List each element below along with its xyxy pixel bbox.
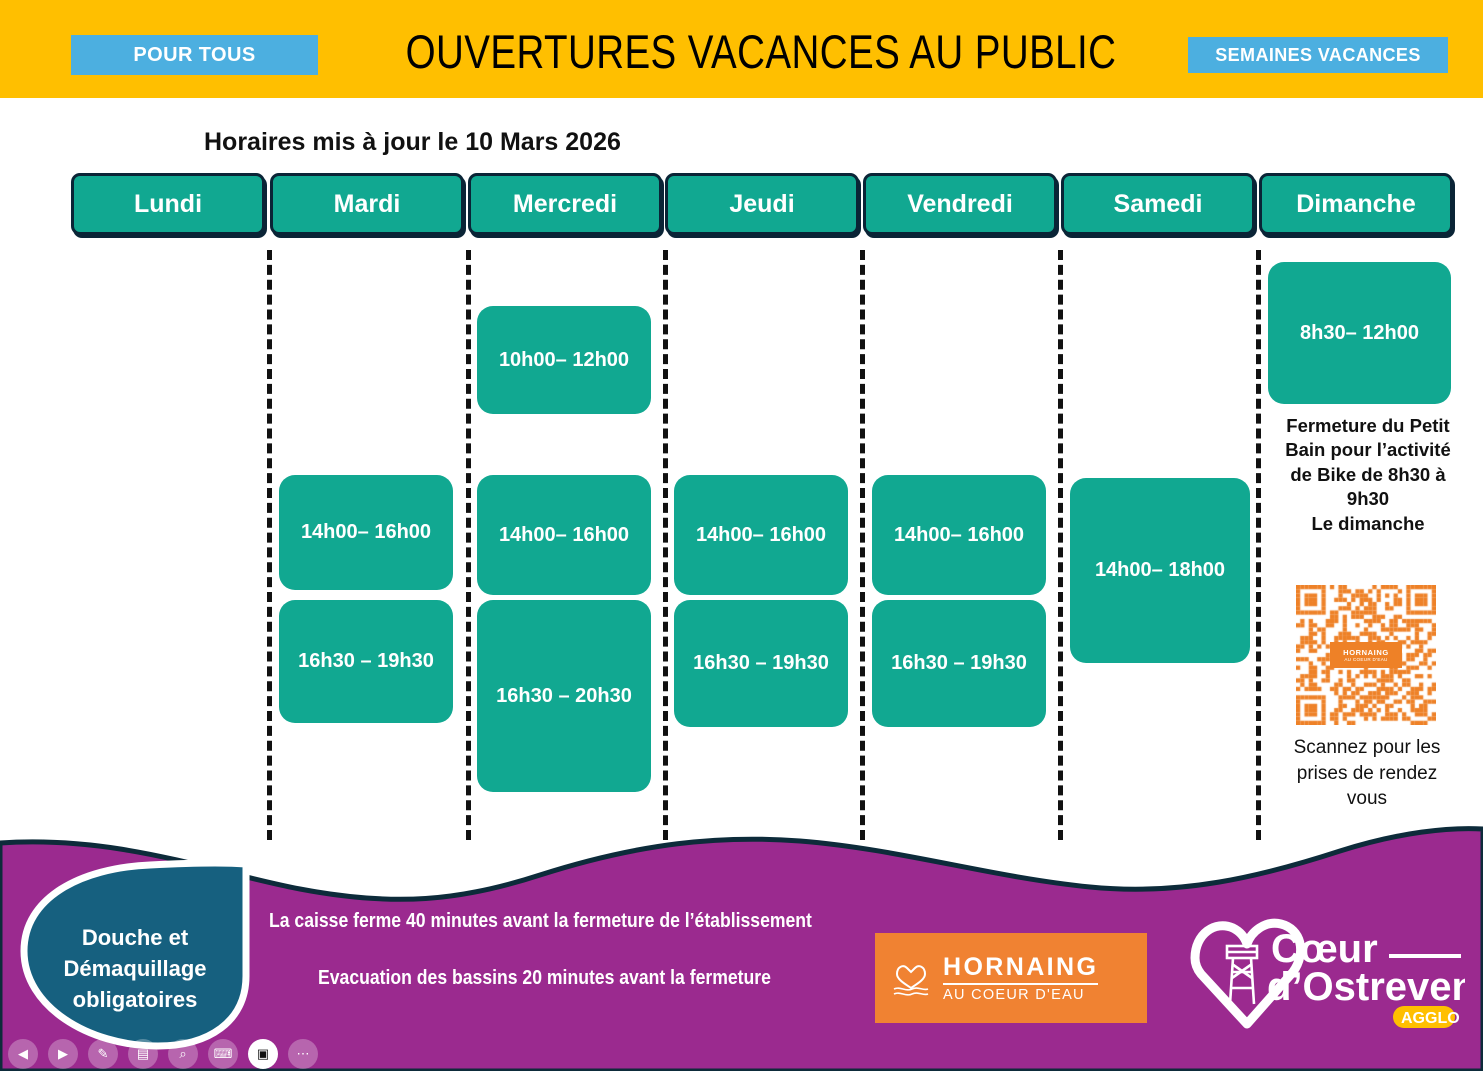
day-header-mardi: Mardi xyxy=(270,173,464,235)
pour-tous-badge: POUR TOUS xyxy=(71,35,318,75)
time-slot-jeudi-6: 16h30 – 19h30 xyxy=(674,600,848,727)
column-separator-2 xyxy=(663,250,668,840)
day-header-lundi: Lundi xyxy=(71,173,265,235)
layout-button[interactable]: ▤ xyxy=(128,1039,158,1069)
hornaing-logo-tagline: AU COEUR D'EAU xyxy=(943,987,1098,1003)
previous-page-button[interactable]: ◀ xyxy=(8,1039,38,1069)
zoom-button[interactable]: ⌕ xyxy=(168,1039,198,1069)
pen-tool-button[interactable]: ✎ xyxy=(88,1039,118,1069)
day-header-jeudi: Jeudi xyxy=(665,173,859,235)
cash-desk-notice: La caisse ferme 40 minutes avant la ferm… xyxy=(269,910,812,933)
day-header-dimanche: Dimanche xyxy=(1259,173,1453,235)
coeur-logo-line2: d’Ostrevent xyxy=(1267,965,1465,1009)
schedule-update-date: Horaires mis à jour le 10 Mars 2026 xyxy=(204,128,621,157)
column-separator-1 xyxy=(466,250,471,840)
time-slot-vendredi-7: 14h00– 16h00 xyxy=(872,475,1046,595)
time-slot-jeudi-5: 14h00– 16h00 xyxy=(674,475,848,595)
hornaing-logo-name: HORNAING xyxy=(943,953,1098,985)
heart-wave-icon xyxy=(889,958,933,998)
more-options-button[interactable]: ⋯ xyxy=(288,1039,318,1069)
viewer-toolbar[interactable]: ◀▶✎▤⌕⌨▣⋯ xyxy=(0,1036,300,1071)
shower-notice-text: Douche et Démaquillage obligatoires xyxy=(30,922,240,1016)
day-header-samedi: Samedi xyxy=(1061,173,1255,235)
qr-scan-instruction: Scannez pour les prises de rendez vous xyxy=(1287,735,1447,812)
time-slot-mercredi-3: 14h00– 16h00 xyxy=(477,475,651,595)
column-separator-5 xyxy=(1256,250,1261,840)
qr-center-logo: HORNAING AU COEUR D'EAU xyxy=(1330,642,1402,668)
column-separator-0 xyxy=(267,250,272,840)
record-video-button[interactable]: ▣ xyxy=(248,1039,278,1069)
day-header-mercredi: Mercredi xyxy=(468,173,662,235)
appointment-qr-code[interactable]: HORNAING AU COEUR D'EAU xyxy=(1296,585,1436,725)
time-slot-samedi-9: 14h00– 18h00 xyxy=(1070,478,1250,663)
day-header-vendredi: Vendredi xyxy=(863,173,1057,235)
semaines-vacances-badge: SEMAINES VACANCES xyxy=(1188,37,1448,73)
time-slot-mardi-0: 14h00– 16h00 xyxy=(279,475,453,590)
poster-canvas: POUR TOUS OUVERTURES VACANCES AU PUBLIC … xyxy=(0,0,1483,1071)
column-separator-4 xyxy=(1058,250,1063,840)
agglo-badge: AGGLO xyxy=(1393,1006,1460,1028)
pool-evacuation-notice: Evacuation des bassins 20 minutes avant … xyxy=(318,967,771,990)
keyboard-button[interactable]: ⌨ xyxy=(208,1039,238,1069)
hornaing-logo: HORNAING AU COEUR D'EAU xyxy=(875,933,1147,1023)
coeur-dostrevent-logo: Cœur d’Ostrevent AGGLO xyxy=(1175,912,1465,1037)
time-slot-vendredi-8: 16h30 – 19h30 xyxy=(872,600,1046,727)
page-title: OUVERTURES VACANCES AU PUBLIC xyxy=(406,24,1095,79)
svg-text:AGGLO: AGGLO xyxy=(1401,1010,1460,1027)
time-slot-mardi-1: 16h30 – 19h30 xyxy=(279,600,453,723)
time-slot-mercredi-2: 10h00– 12h00 xyxy=(477,306,651,414)
column-separator-3 xyxy=(860,250,865,840)
next-page-button[interactable]: ▶ xyxy=(48,1039,78,1069)
sunday-closure-note: Fermeture du Petit Bain pour l’activité … xyxy=(1283,414,1453,536)
time-slot-mercredi-4: 16h30 – 20h30 xyxy=(477,600,651,792)
water-tower-icon xyxy=(1227,946,1257,1004)
time-slot-dimanche-10: 8h30– 12h00 xyxy=(1268,262,1451,404)
